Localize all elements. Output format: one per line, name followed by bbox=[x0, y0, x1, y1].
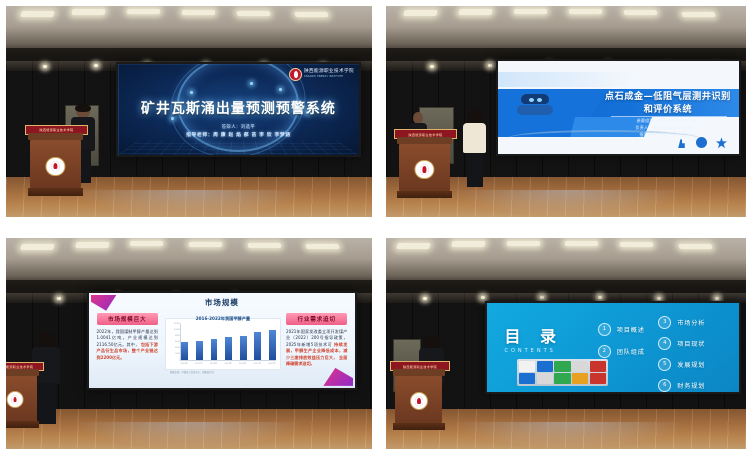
podium: 陕西能源职业技术学院 bbox=[393, 369, 444, 430]
container-block bbox=[537, 361, 553, 372]
podium-icon bbox=[676, 137, 687, 148]
female-presenter bbox=[463, 112, 487, 188]
container-block bbox=[590, 373, 606, 384]
led-screen[interactable]: 目 录 CONTENTS 1项目概述2团队组成 3市场分析4项目现状5发展规划6… bbox=[485, 301, 741, 394]
contents-item-number: 2 bbox=[598, 345, 611, 358]
contents-item-label: 财务规划 bbox=[677, 381, 705, 390]
photo-presentation-contents[interactable]: 目 录 CONTENTS 1项目概述2团队组成 3市场分析4项目现状5发展规划6… bbox=[386, 238, 746, 449]
chart-x-axis-labels: 2016年2017年2018年2019年2020年2021年2022年 bbox=[180, 362, 275, 365]
logo-name-en: SHAANXI ENERGY INSTITUTE bbox=[304, 76, 354, 78]
chart-bar bbox=[269, 330, 276, 360]
chart-x-tick: 2018年 bbox=[210, 362, 217, 365]
contents-item-number: 5 bbox=[658, 358, 671, 371]
contents-item[interactable]: 6财务规划 bbox=[658, 379, 705, 392]
chart-bar bbox=[181, 342, 188, 360]
contents-item-number: 6 bbox=[658, 379, 671, 392]
contents-column-1: 1项目概述2团队组成 bbox=[598, 323, 645, 358]
container-block bbox=[554, 373, 570, 384]
contents-item-label: 团队组成 bbox=[617, 347, 645, 356]
corner-accent bbox=[323, 368, 353, 386]
contents-item-number: 3 bbox=[658, 316, 671, 329]
divider bbox=[611, 116, 727, 117]
container-blocks-graphic bbox=[517, 359, 608, 386]
contents-heading-en: CONTENTS bbox=[504, 348, 563, 354]
photo-presentation-low-resistivity-gas[interactable]: 点石成金—低阻气层测井识别和评价系统 参赛组别：科技创新和未来产业 负责人：张永… bbox=[386, 6, 746, 217]
photo-grid: 陕西能源职业技术学院 SHAANXI ENERGY INSTITUTE 矿井瓦斯… bbox=[0, 0, 746, 446]
contents-heading-cn: 目 录 bbox=[504, 323, 563, 347]
chart-x-tick: 2019年 bbox=[224, 362, 231, 365]
right-body: 2021年国家发改委立项开发煤产业（2022）200号指导政策，2025年新增5… bbox=[286, 329, 347, 368]
globe-icon bbox=[696, 137, 707, 148]
slide-meta: 参赛组别：科技创新和未来产业 负责人：张永强 18309163821 指导老师：… bbox=[604, 118, 729, 138]
contents-heading: 目 录 CONTENTS bbox=[504, 323, 563, 354]
chart-y-axis-labels: 120001000080006000400020000 bbox=[167, 323, 181, 361]
chart-x-tick: 2021年 bbox=[254, 362, 261, 365]
right-column: 行业需求迫切 2021年国家发改委立项开发煤产业（2022）200号指导政策，2… bbox=[286, 313, 347, 368]
contents-item[interactable]: 5发展规划 bbox=[658, 358, 705, 371]
chart-y-tick: 12000 bbox=[174, 323, 181, 325]
contents-item-number: 4 bbox=[658, 337, 671, 350]
contents-column-2: 3市场分析4项目现状5发展规划6财务规划7风险规避 bbox=[658, 316, 705, 394]
contents-item-label: 市场分析 bbox=[677, 318, 705, 327]
contents-item[interactable]: 3市场分析 bbox=[658, 316, 705, 329]
photo-presentation-market-size[interactable]: 市场规模 市场规模巨大 2022年，我国煤制甲醇产量达到1.0041亿吨，产业规… bbox=[6, 238, 372, 449]
chart-x-tick: 2022年 bbox=[268, 362, 275, 365]
chart-bar bbox=[240, 336, 247, 360]
contents-item[interactable]: 4项目现状 bbox=[658, 337, 705, 350]
podium: 陕西能源职业技术学院 bbox=[397, 137, 452, 198]
podium-emblem-icon bbox=[46, 157, 65, 176]
podium-emblem-icon bbox=[7, 391, 24, 408]
left-body: 2022年，我国煤制甲醇产量达到1.0041亿吨，产业规模达到2116.50亿元… bbox=[97, 329, 158, 362]
meta-leader: 负责人：张永强 18309163821 bbox=[604, 125, 729, 132]
chart-x-tick: 2020年 bbox=[239, 362, 246, 365]
slide-heading: 市场规模 bbox=[89, 297, 356, 308]
contents-item-label: 项目现状 bbox=[677, 339, 705, 348]
star-icon bbox=[716, 137, 727, 148]
contents-item[interactable]: 1项目概述 bbox=[598, 323, 645, 336]
podium-emblem-icon bbox=[415, 160, 434, 179]
robot-illustration-icon bbox=[512, 92, 560, 116]
chart-source-note: 数据来源：中国化工信息中心、国家统计局 bbox=[170, 371, 214, 374]
chart-x-tick: 2016年 bbox=[180, 362, 187, 365]
light-band bbox=[498, 72, 638, 87]
photo-presentation-mine-gas[interactable]: 陕西能源职业技术学院 SHAANXI ENERGY INSTITUTE 矿井瓦斯… bbox=[6, 6, 372, 217]
slide-title: 点石成金—低阻气层测井识别和评价系统 bbox=[604, 91, 732, 115]
perspective-grid bbox=[118, 140, 359, 155]
contents-item-number: 1 bbox=[598, 323, 611, 336]
flame-emblem-icon bbox=[289, 68, 302, 81]
led-screen[interactable]: 陕西能源职业技术学院 SHAANXI ENERGY INSTITUTE 矿井瓦斯… bbox=[116, 62, 361, 157]
slide-icon-row bbox=[676, 137, 727, 148]
container-block bbox=[519, 361, 535, 372]
container-block bbox=[572, 373, 588, 384]
podium-emblem-icon bbox=[410, 392, 428, 410]
container-block bbox=[519, 373, 535, 384]
slide-title: 矿井瓦斯涌出量预测预警系统 bbox=[118, 98, 359, 118]
slide-advisors: 指导老师：周 康 赵 焰 郝 苗 李 欣 李梦涵 bbox=[118, 131, 359, 138]
bar-chart: 2016-2022年我国甲醇产量 12000100008000600040002… bbox=[165, 318, 282, 369]
chart-bar bbox=[225, 337, 232, 360]
container-block bbox=[572, 361, 588, 372]
chart-plot-area bbox=[180, 324, 275, 361]
container-block bbox=[554, 361, 570, 372]
chart-bar bbox=[254, 332, 261, 360]
led-screen[interactable]: 市场规模 市场规模巨大 2022年，我国煤制甲醇产量达到1.0041亿吨，产业规… bbox=[87, 291, 358, 390]
container-block bbox=[590, 361, 606, 372]
chart-bar bbox=[211, 339, 218, 360]
chart-bar bbox=[196, 341, 203, 360]
left-tag: 市场规模巨大 bbox=[97, 313, 158, 325]
left-column: 市场规模巨大 2022年，我国煤制甲醇产量达到1.0041亿吨，产业规模达到21… bbox=[97, 313, 158, 362]
podium: 陕西能源职业技术学院 bbox=[6, 369, 39, 428]
right-tag: 行业需求迫切 bbox=[286, 313, 347, 325]
contents-item-label: 发展规划 bbox=[677, 360, 705, 369]
chart-x-tick: 2017年 bbox=[195, 362, 202, 365]
podium: 陕西能源职业技术学院 bbox=[28, 133, 83, 196]
led-screen[interactable]: 点石成金—低阻气层测井识别和评价系统 参赛组别：科技创新和未来产业 负责人：张永… bbox=[496, 59, 741, 156]
chart-title: 2016-2022年我国甲醇产量 bbox=[166, 316, 281, 322]
slide-presenter: 答辩人：刘选平 bbox=[118, 124, 359, 130]
contents-item-label: 项目概述 bbox=[617, 325, 645, 334]
container-block bbox=[537, 373, 553, 384]
contents-item[interactable]: 2团队组成 bbox=[598, 345, 645, 358]
school-logo: 陕西能源职业技术学院 SHAANXI ENERGY INSTITUTE bbox=[289, 68, 354, 81]
chart-y-tick: 10000 bbox=[174, 329, 181, 331]
